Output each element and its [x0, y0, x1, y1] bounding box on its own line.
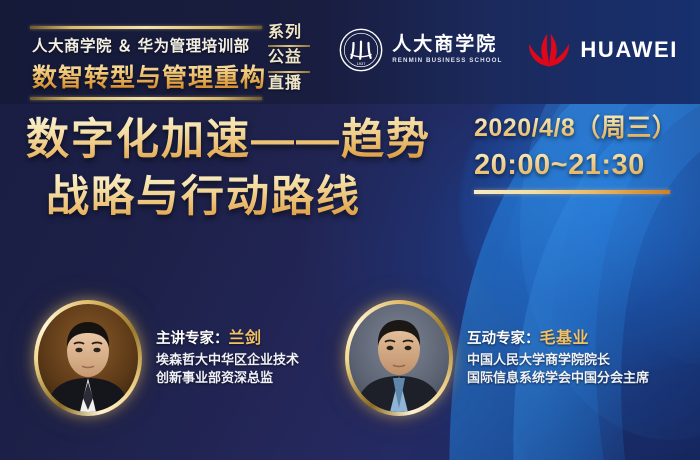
- huawei-logo: HUAWEI: [528, 33, 678, 67]
- speaker-portrait-maojiye: [349, 304, 449, 412]
- school-name-cn: 人大商学院: [392, 35, 502, 54]
- schedule-time: 20:00~21:30: [474, 146, 677, 185]
- speaker-portrait-lanjian: [38, 304, 138, 412]
- speaker-affiliation-1-line1: 中国人民大学商学院院长: [467, 351, 649, 369]
- schedule-divider: [474, 190, 670, 194]
- webinar-poster: 人大商学院 ＆ 华为管理培训部 数智转型与管理重构 系列 公益 直播 1937 …: [0, 0, 700, 460]
- title-line-2: 战略与行动路线: [26, 169, 431, 226]
- speaker-card-1: 互动专家：毛基业 中国人民大学商学院院长 国际信息系统学会中国分会主席: [345, 300, 649, 416]
- speaker-role-1: 互动专家：毛基业: [467, 328, 649, 351]
- organizers-label: 人大商学院 ＆ 华为管理培训部: [30, 29, 290, 58]
- vertical-tag-2: 直播: [268, 73, 314, 96]
- series-title: 数智转型与管理重构: [30, 58, 290, 97]
- vertical-tag-stack: 系列 公益 直播: [268, 22, 314, 96]
- speaker-card-0: 主讲专家：兰剑 埃森哲大中华区企业技术 创新事业部资深总监: [34, 300, 299, 416]
- title-line-1: 数字化加速——趋势: [26, 112, 431, 169]
- schedule-block: 2020/4/8（周三） 20:00~21:30: [474, 112, 677, 194]
- schedule-date: 2020/4/8（周三）: [474, 112, 677, 146]
- logo-group: 1937 人大商学院 RENMIN BUSINESS SCHOOL HUAWEI: [339, 28, 678, 72]
- speaker-affiliation-0-line2: 创新事业部资深总监: [156, 369, 299, 387]
- vertical-tag-0: 系列: [268, 22, 314, 45]
- vertical-tag-1: 公益: [268, 47, 314, 70]
- huawei-wordmark: HUAWEI: [580, 37, 678, 63]
- speaker-name-0: 兰剑: [229, 330, 262, 347]
- main-title: 数字化加速——趋势 战略与行动路线: [26, 112, 431, 226]
- huawei-flower-icon: [528, 33, 570, 67]
- renmin-seal-icon: 1937: [339, 28, 383, 72]
- speaker-affiliation-1-line2: 国际信息系统学会中国分会主席: [467, 369, 649, 387]
- speaker-portrait-frame-1: [345, 300, 453, 416]
- renmin-business-school-logo: 1937 人大商学院 RENMIN BUSINESS SCHOOL: [339, 28, 502, 72]
- school-name-en: RENMIN BUSINESS SCHOOL: [392, 58, 502, 64]
- header-rule-bottom: [30, 97, 262, 100]
- header-block: 人大商学院 ＆ 华为管理培训部 数智转型与管理重构: [30, 26, 290, 100]
- speaker-affiliation-0-line1: 埃森哲大中华区企业技术: [156, 351, 299, 369]
- speaker-portrait-frame-0: [34, 300, 142, 416]
- svg-text:1937: 1937: [357, 61, 366, 66]
- speaker-name-1: 毛基业: [540, 330, 590, 347]
- speaker-role-0: 主讲专家：兰剑: [156, 328, 299, 351]
